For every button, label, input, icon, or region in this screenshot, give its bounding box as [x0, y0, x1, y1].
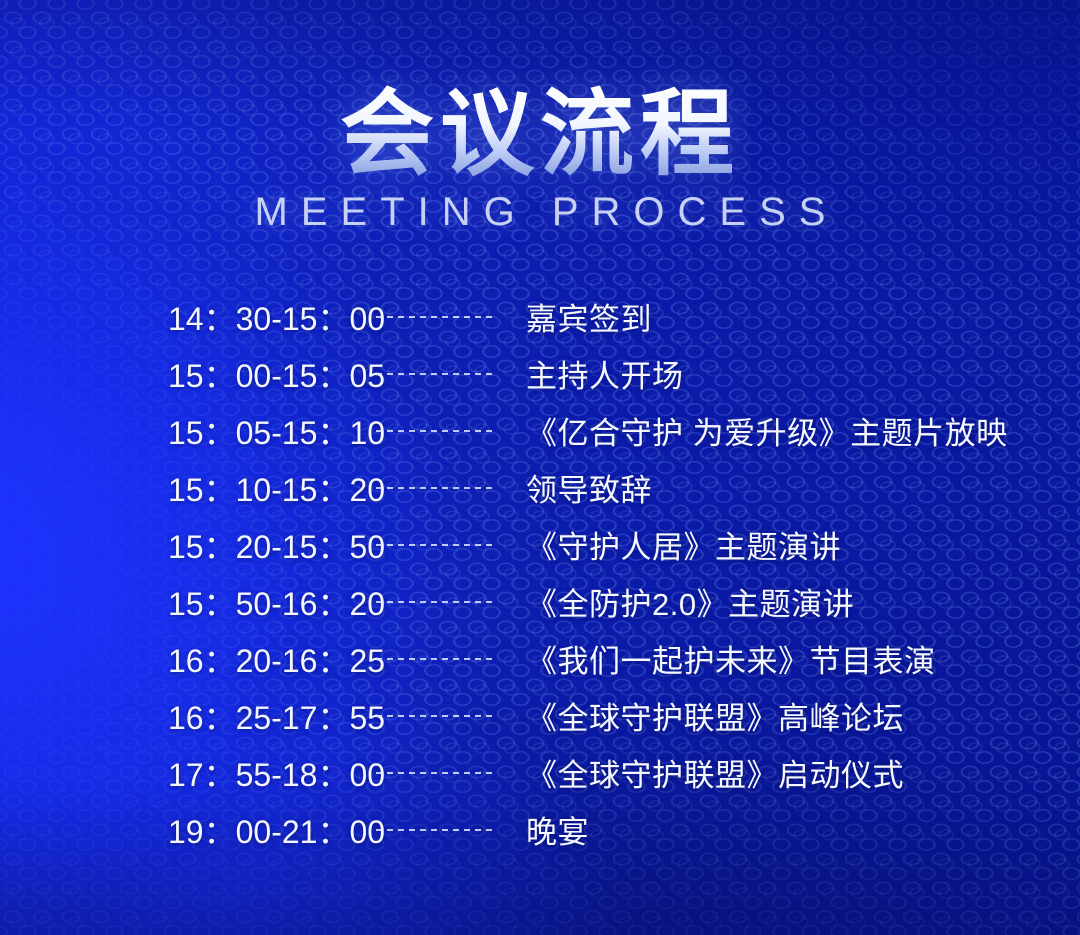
- schedule-row: 16：25-17：55《全球守护联盟》高峰论坛: [0, 687, 1080, 744]
- schedule-list: 14：30-15：00嘉宾签到15：00-15：05主持人开场15：05-15：…: [0, 288, 1080, 858]
- dotted-leader: [376, 658, 496, 660]
- schedule-row-time: 15：10-15：20: [168, 465, 376, 511]
- dotted-leader: [376, 316, 496, 318]
- schedule-row: 15：20-15：50《守护人居》主题演讲: [0, 516, 1080, 573]
- schedule-row-time: 15：05-15：10: [168, 408, 376, 454]
- schedule-row-time: 19：00-21：00: [168, 807, 376, 853]
- schedule-row: 15：10-15：20领导致辞: [0, 459, 1080, 516]
- schedule-row: 16：20-16：25《我们一起护未来》节目表演: [0, 630, 1080, 687]
- schedule-row: 15：00-15：05主持人开场: [0, 345, 1080, 402]
- schedule-row: 17：55-18：00《全球守护联盟》启动仪式: [0, 744, 1080, 801]
- schedule-row: 15：05-15：10《亿合守护 为爱升级》主题片放映: [0, 402, 1080, 459]
- schedule-row-item: 《全球守护联盟》高峰论坛: [526, 693, 904, 738]
- schedule-row-item: 晚宴: [526, 807, 589, 852]
- schedule-row-item: 嘉宾签到: [526, 294, 652, 339]
- schedule-row: 14：30-15：00嘉宾签到: [0, 288, 1080, 345]
- dotted-leader: [376, 487, 496, 489]
- page-subtitle: MEETING PROCESS: [0, 190, 1080, 235]
- schedule-row-time: 15：20-15：50: [168, 522, 376, 568]
- schedule-row-item: 领导致辞: [526, 465, 652, 510]
- dotted-leader: [376, 772, 496, 774]
- schedule-row: 15：50-16：20《全防护2.0》主题演讲: [0, 573, 1080, 630]
- schedule-row-item: 《全防护2.0》主题演讲: [526, 579, 854, 624]
- schedule-row-item: 《我们一起护未来》节目表演: [526, 636, 936, 681]
- schedule-row-time: 16：25-17：55: [168, 693, 376, 739]
- dotted-leader: [376, 829, 496, 831]
- schedule-row: 19：00-21：00晚宴: [0, 801, 1080, 858]
- poster-header: 会议流程 MEETING PROCESS: [0, 84, 1080, 235]
- schedule-row-time: 14：30-15：00: [168, 294, 376, 340]
- dotted-leader: [376, 544, 496, 546]
- page-title: 会议流程: [0, 84, 1080, 184]
- dotted-leader: [376, 373, 496, 375]
- schedule-row-item: 《亿合守护 为爱升级》主题片放映: [526, 408, 1008, 453]
- dotted-leader: [376, 715, 496, 717]
- dotted-leader: [376, 601, 496, 603]
- meeting-process-poster: 会议流程 MEETING PROCESS 14：30-15：00嘉宾签到15：0…: [0, 0, 1080, 935]
- schedule-row-item: 《守护人居》主题演讲: [526, 522, 841, 567]
- dotted-leader: [376, 430, 496, 432]
- schedule-row-time: 15：50-16：20: [168, 579, 376, 625]
- schedule-row-time: 17：55-18：00: [168, 750, 376, 796]
- schedule-row-time: 15：00-15：05: [168, 351, 376, 397]
- schedule-row-item: 《全球守护联盟》启动仪式: [526, 750, 904, 795]
- schedule-row-time: 16：20-16：25: [168, 636, 376, 682]
- schedule-row-item: 主持人开场: [526, 351, 684, 396]
